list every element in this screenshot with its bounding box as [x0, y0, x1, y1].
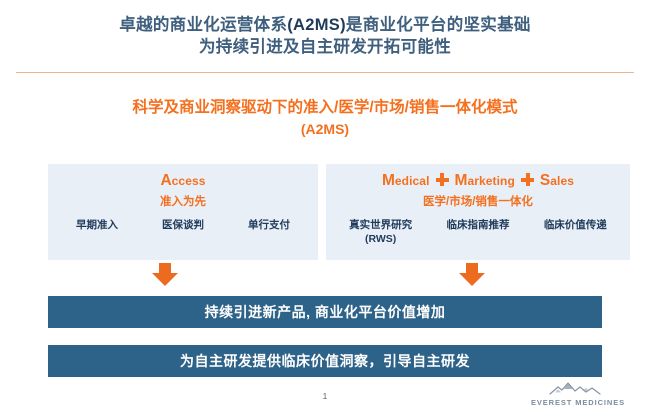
banner-clinical-insight: 为自主研发提供临床价值洞察，引导自主研发	[48, 345, 602, 377]
banner-continuous-introduction: 持续引进新产品, 商业化平台价值增加	[48, 296, 602, 328]
panel-item-label: 临床指南推荐	[446, 219, 509, 231]
subtitle-line-2: (A2MS)	[0, 119, 650, 139]
panel-medical-marketing-sales: MedicalMarketingSales 医学/市场/销售一体化 真实世界研究…	[326, 164, 630, 260]
title-highlight-a2ms: (A2MS)	[287, 16, 346, 34]
mountain-icon	[542, 380, 614, 397]
panel-item-label: 真实世界研究	[349, 219, 412, 231]
arrow-down-icon-right	[459, 263, 485, 287]
title-prefix: 卓越的商业化运营体系	[119, 16, 287, 34]
panel-mms-medical-rest: edical	[395, 174, 430, 188]
panel-item: 临床指南推荐	[429, 218, 526, 232]
slide-canvas: 卓越的商业化运营体系(A2MS)是商业化平台的坚实基础 为持续引进及自主研发开拓…	[0, 0, 650, 412]
title-line-2: 为持续引进及自主研发开拓可能性	[0, 36, 650, 58]
arrow-head	[459, 273, 485, 286]
arrow-head	[152, 273, 178, 286]
panel-item-label: 单行支付	[248, 219, 290, 231]
plus-icon	[436, 173, 449, 186]
panel-access: Access 准入为先 早期准入 医保谈判 单行支付	[48, 164, 318, 260]
subtitle-line-1: 科学及商业洞察驱动下的准入/医学/市场/销售一体化模式	[0, 96, 650, 119]
panel-item: 单行支付	[226, 218, 312, 232]
panel-mms-marketing-cap: M	[455, 172, 468, 189]
panel-item-label: 早期准入	[76, 219, 118, 231]
title-divider	[16, 72, 634, 73]
logo-text: EVEREST MEDICINES	[530, 398, 626, 407]
arrow-down-icon-left	[152, 263, 178, 287]
panel-mms-subheading: 医学/市场/销售一体化	[326, 194, 630, 211]
panel-access-heading: Access	[48, 171, 318, 191]
panel-item: 早期准入	[54, 218, 140, 232]
panel-mms-medical-cap: M	[382, 172, 395, 189]
panel-item-label: 医保谈判	[162, 219, 204, 231]
banner-text: 为自主研发提供临床价值洞察，引导自主研发	[180, 351, 470, 371]
panel-item-label: 临床价值传递	[544, 219, 607, 231]
panel-item: 真实世界研究(RWS)	[332, 218, 429, 246]
panel-access-items: 早期准入 医保谈判 单行支付	[48, 218, 318, 232]
company-logo: EVEREST MEDICINES	[530, 380, 626, 407]
panel-mms-sales-rest: ales	[550, 174, 574, 188]
title-line-1: 卓越的商业化运营体系(A2MS)是商业化平台的坚实基础	[0, 14, 650, 36]
panel-mms-heading: MedicalMarketingSales	[326, 171, 630, 191]
title-suffix: 是商业化平台的坚实基础	[346, 16, 531, 34]
panel-item-sublabel: (RWS)	[332, 232, 429, 246]
slide-subtitle: 科学及商业洞察驱动下的准入/医学/市场/销售一体化模式 (A2MS)	[0, 96, 650, 139]
panel-access-heading-cap: A	[160, 172, 171, 189]
panel-access-heading-rest: ccess	[172, 174, 206, 188]
plus-icon	[521, 173, 534, 186]
panel-access-subheading: 准入为先	[48, 194, 318, 211]
banner-text: 持续引进新产品, 商业化平台价值增加	[205, 302, 446, 322]
slide-title: 卓越的商业化运营体系(A2MS)是商业化平台的坚实基础 为持续引进及自主研发开拓…	[0, 14, 650, 58]
panel-mms-items: 真实世界研究(RWS) 临床指南推荐 临床价值传递	[326, 218, 630, 246]
panel-mms-marketing-rest: arketing	[467, 174, 514, 188]
panel-item: 临床价值传递	[527, 218, 624, 232]
panel-mms-sales-cap: S	[540, 172, 550, 189]
panel-item: 医保谈判	[140, 218, 226, 232]
